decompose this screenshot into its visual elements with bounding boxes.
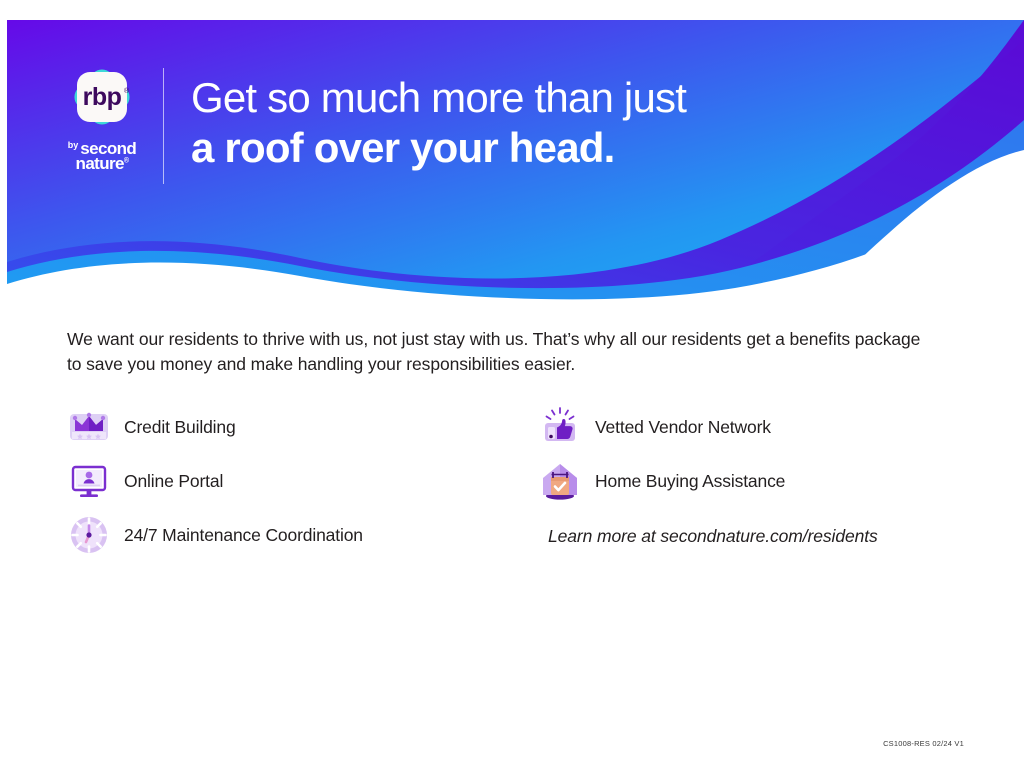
benefits-column-right: Vetted Vendor Network	[538, 400, 968, 547]
benefit-label: Credit Building	[124, 417, 236, 438]
benefit-item-online-portal[interactable]: Online Portal	[67, 454, 537, 508]
clock-icon	[67, 513, 111, 557]
benefit-item-credit-building[interactable]: Credit Building	[67, 400, 537, 454]
headline-line-1: Get so much more than just	[191, 74, 686, 121]
thumbs-up-icon	[538, 405, 582, 449]
rbp-logo-lockup: rbp ® bysecond nature®	[52, 60, 152, 172]
benefit-label: Home Buying Assistance	[595, 471, 785, 492]
house-check-icon	[538, 459, 582, 503]
second-nature-wordmark: bysecond nature®	[68, 141, 136, 172]
svg-text:®: ®	[124, 87, 130, 95]
benefit-label: Online Portal	[124, 471, 223, 492]
benefit-label: 24/7 Maintenance Coordination	[124, 525, 363, 546]
logo-brand-line2: nature®	[68, 156, 136, 173]
hero-headline: Get so much more than just a roof over y…	[191, 74, 686, 171]
rbp-logo-mark: rbp ®	[65, 60, 139, 134]
headline-line-2: a roof over your head.	[191, 124, 686, 171]
logo-registered-mark: ®	[124, 157, 129, 164]
crown-stars-icon	[67, 405, 111, 449]
benefit-item-home-buying-assistance[interactable]: Home Buying Assistance	[538, 454, 968, 508]
svg-text:rbp: rbp	[83, 83, 122, 111]
monitor-portal-icon	[67, 459, 111, 503]
document-code: CS1008-RES 02/24 V1	[883, 739, 964, 748]
hero-banner: rbp ® bysecond nature® Get so much more …	[0, 0, 1024, 300]
intro-paragraph: We want our residents to thrive with us,…	[67, 327, 937, 377]
benefits-column-left: Credit Building Online Portal	[67, 400, 537, 562]
rbp-star-badge-icon: rbp ®	[65, 60, 139, 134]
benefit-item-maintenance-coordination[interactable]: 24/7 Maintenance Coordination	[67, 508, 537, 562]
learn-more-text[interactable]: Learn more at secondnature.com/residents	[548, 526, 968, 547]
logo-by-text: by	[68, 141, 79, 150]
logo-headline-divider	[163, 68, 164, 184]
benefit-item-vetted-vendor-network[interactable]: Vetted Vendor Network	[538, 400, 968, 454]
benefit-label: Vetted Vendor Network	[595, 417, 771, 438]
